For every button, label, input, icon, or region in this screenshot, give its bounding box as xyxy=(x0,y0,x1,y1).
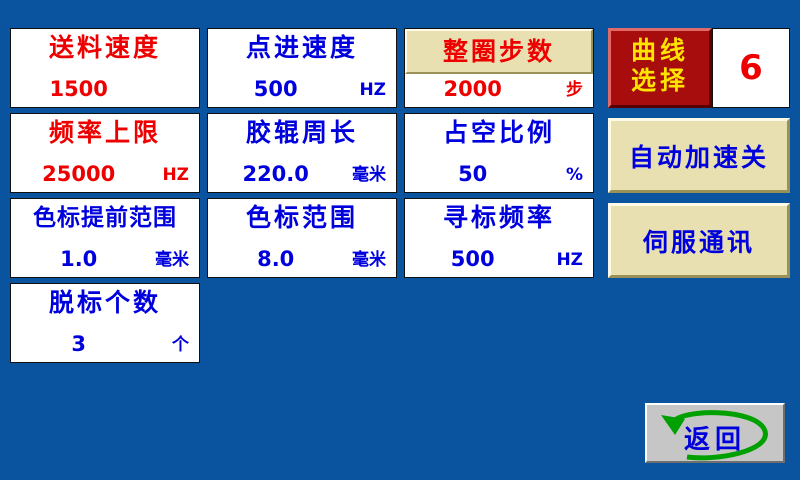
param-label: 色标范围 xyxy=(208,203,396,233)
param-cell-mark-range[interactable]: 色标范围 8.0 毫米 xyxy=(207,198,397,278)
auto-accel-button[interactable]: 自动加速关 xyxy=(608,118,790,193)
param-unit: HZ xyxy=(556,250,583,270)
curve-select-line1: 曲线 xyxy=(611,36,709,66)
curve-number-display: 6 xyxy=(712,28,790,108)
param-cell-roller-circumference[interactable]: 胶辊周长 220.0 毫米 xyxy=(207,113,397,193)
param-label: 脱标个数 xyxy=(11,288,199,318)
param-unit: HZ xyxy=(162,165,189,185)
param-cell-mark-search-frequency[interactable]: 寻标频率 500 HZ xyxy=(404,198,594,278)
param-cell-mark-advance-range[interactable]: 色标提前范围 1.0 毫米 xyxy=(10,198,200,278)
param-label: 整圈步数 xyxy=(405,29,593,74)
param-unit: 毫米 xyxy=(352,245,386,270)
param-value[interactable]: 2000 xyxy=(405,77,540,101)
param-label: 寻标频率 xyxy=(405,203,593,233)
param-value[interactable]: 1500 xyxy=(11,77,146,101)
return-label: 返回 xyxy=(647,419,783,456)
param-cell-frequency-limit[interactable]: 频率上限 25000 HZ xyxy=(10,113,200,193)
param-value[interactable]: 25000 xyxy=(11,162,146,186)
param-label: 送料速度 xyxy=(11,33,199,63)
curve-select-button[interactable]: 曲线 选择 xyxy=(608,28,712,108)
servo-comm-button[interactable]: 伺服通讯 xyxy=(608,203,790,278)
param-label: 点进速度 xyxy=(208,33,396,63)
param-unit: 个 xyxy=(172,330,189,355)
servo-comm-label: 伺服通讯 xyxy=(643,223,755,259)
param-value[interactable]: 500 xyxy=(208,77,343,101)
param-unit: % xyxy=(566,165,583,185)
param-label: 占空比例 xyxy=(405,118,593,148)
param-value[interactable]: 3 xyxy=(11,332,146,356)
param-cell-jog-speed[interactable]: 点进速度 500 HZ xyxy=(207,28,397,108)
param-unit: 步 xyxy=(566,75,583,100)
param-unit: 毫米 xyxy=(155,245,189,270)
param-label: 频率上限 xyxy=(11,118,199,148)
return-button[interactable]: 返回 xyxy=(645,403,785,463)
param-value[interactable]: 500 xyxy=(405,247,540,271)
auto-accel-label: 自动加速关 xyxy=(629,138,769,174)
param-unit: HZ xyxy=(359,80,386,100)
param-value[interactable]: 220.0 xyxy=(208,162,343,186)
param-unit: 毫米 xyxy=(352,160,386,185)
param-label: 胶辊周长 xyxy=(208,118,396,148)
param-cell-duty-ratio[interactable]: 占空比例 50 % xyxy=(404,113,594,193)
param-cell-full-circle-steps[interactable]: 整圈步数 2000 步 xyxy=(404,28,594,108)
param-value[interactable]: 8.0 xyxy=(208,247,343,271)
param-label: 色标提前范围 xyxy=(11,203,199,233)
param-cell-missing-mark-count[interactable]: 脱标个数 3 个 xyxy=(10,283,200,363)
curve-select-line2: 选择 xyxy=(611,66,709,96)
param-value[interactable]: 50 xyxy=(405,162,540,186)
param-value[interactable]: 1.0 xyxy=(11,247,146,271)
param-cell-feed-speed[interactable]: 送料速度 1500 xyxy=(10,28,200,108)
